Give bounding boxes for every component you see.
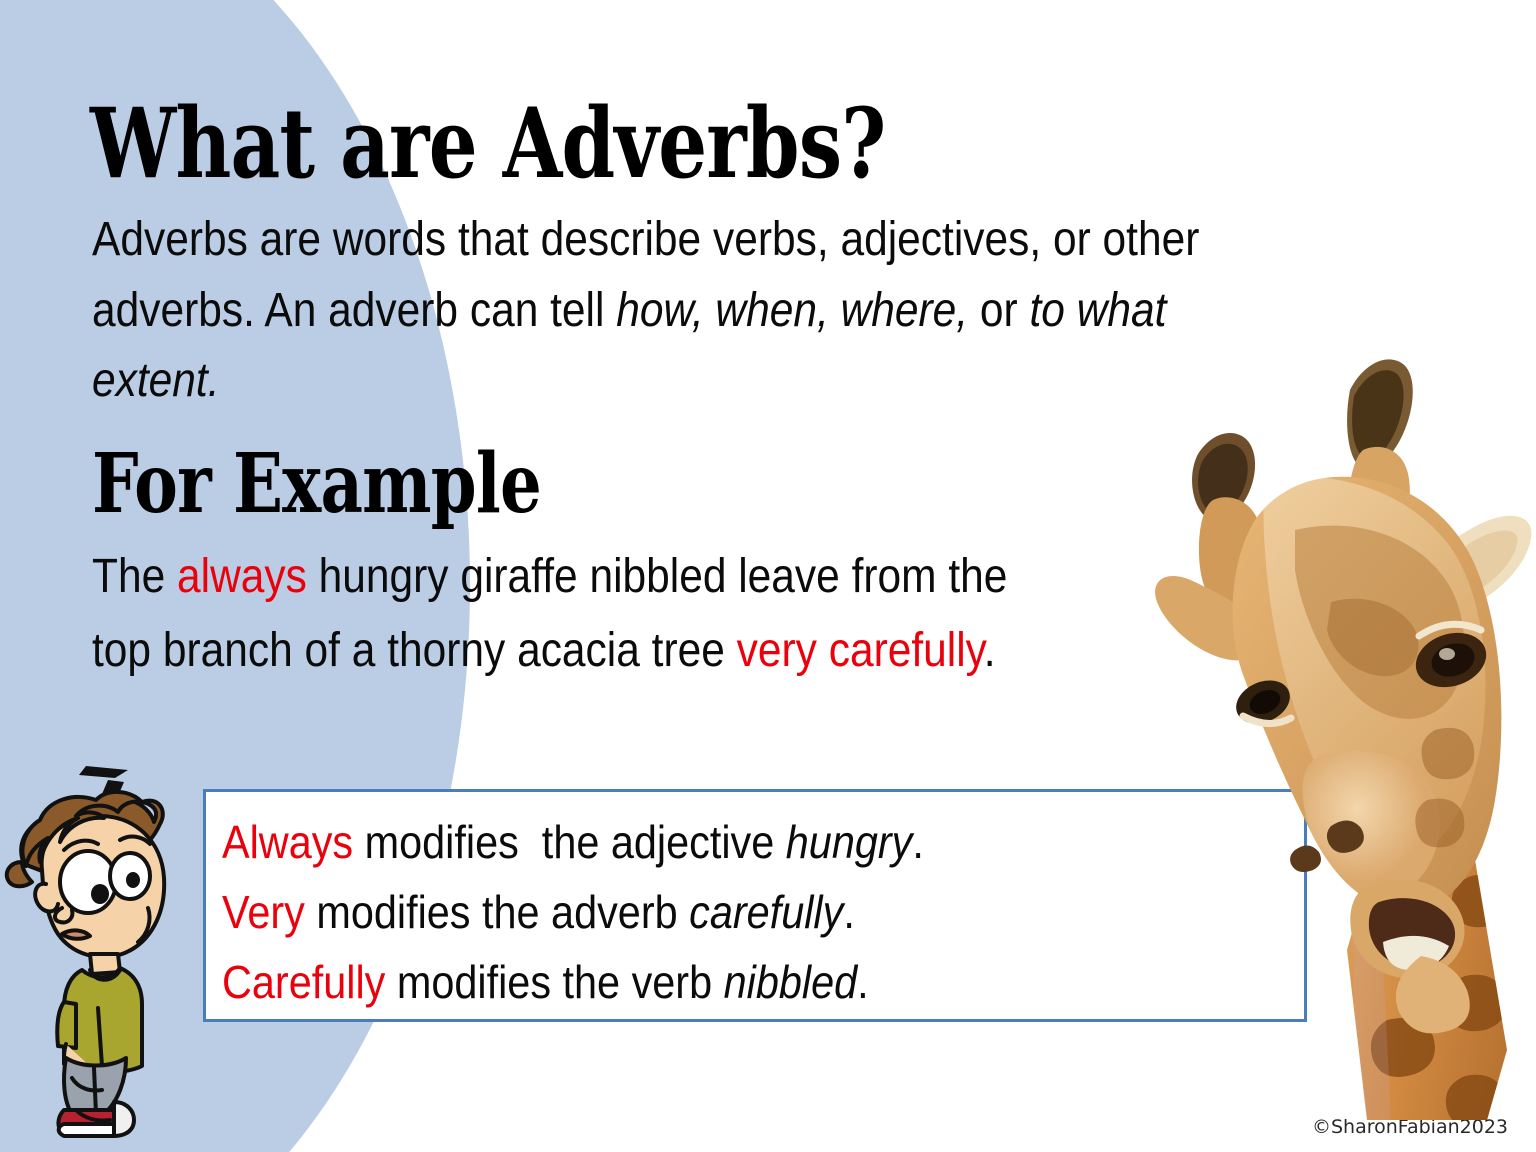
explanation-red-word-2: Very (222, 886, 305, 938)
example-adverb-always: always (177, 550, 307, 603)
explanation-line-1: Always modifies the adjective hungry. (222, 808, 1203, 878)
giraffe-head-photo (1135, 330, 1535, 1120)
explanation-mid-1: modifies the adjective (353, 816, 786, 868)
page-title: What are Adverbs? (90, 96, 885, 192)
explanation-lines: Always modifies the adjective hungry. Ve… (222, 808, 1203, 1018)
explanation-line-2: Very modifies the adverb carefully. (222, 878, 1203, 948)
example-adverb-very-carefully: very carefully (737, 624, 984, 677)
intro-paragraph: Adverbs are words that describe verbs, a… (92, 205, 1260, 417)
explanation-red-word-1: Always (222, 816, 353, 868)
section-subtitle: For Example (92, 443, 541, 525)
explanation-end-1: . (912, 816, 924, 868)
slide-canvas: What are Adverbs? Adverbs are words that… (0, 0, 1536, 1152)
explanation-red-word-3: Carefully (222, 956, 385, 1008)
confused-cartoon-boy (2, 758, 207, 1150)
example-text-c: . (984, 624, 996, 677)
explanation-end-2: . (843, 886, 855, 938)
example-text-a: The (92, 550, 177, 603)
explanation-italic-2: carefully (689, 886, 843, 938)
explanation-italic-1: hungry (786, 816, 913, 868)
explanation-mid-3: modifies the verb (385, 956, 723, 1008)
explanation-italic-3: nibbled (724, 956, 858, 1008)
intro-text-part2: or (968, 284, 1029, 337)
explanation-end-3: . (857, 956, 869, 1008)
explanation-line-3: Carefully modifies the verb nibbled. (222, 948, 1203, 1018)
example-sentence: The always hungry giraffe nibbled leave … (92, 540, 1066, 689)
intro-italic-1: how, when, where, (616, 284, 968, 337)
explanation-mid-2: modifies the adverb (305, 886, 689, 938)
